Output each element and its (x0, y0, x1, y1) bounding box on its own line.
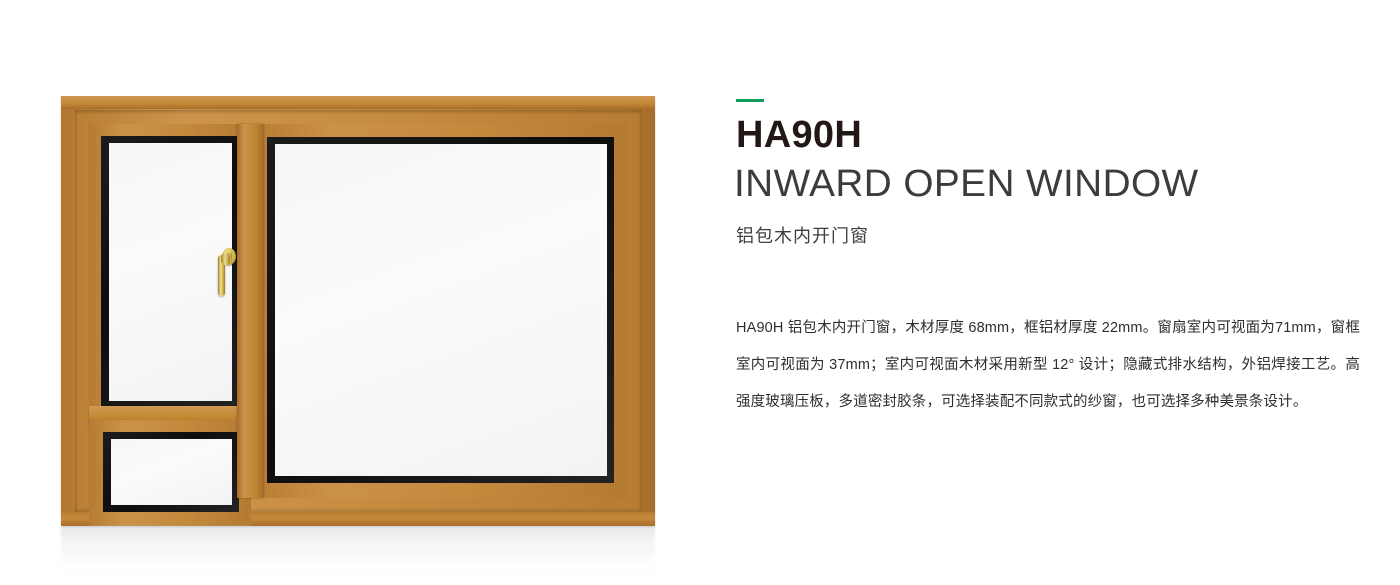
window-inner-frame (75, 110, 641, 512)
right-large-fixed-pane (251, 124, 627, 498)
window-product-image (61, 96, 655, 526)
window-handle-icon (218, 248, 236, 296)
vertical-mullion (237, 124, 263, 498)
product-name-chinese: 铝包木内开门窗 (736, 226, 869, 248)
product-model-code: HA90H (736, 116, 862, 154)
product-detail-page: HA90H INWARD OPEN WINDOW 铝包木内开门窗 HA90H 铝… (0, 0, 1400, 585)
product-info-panel: HA90H INWARD OPEN WINDOW 铝包木内开门窗 HA90H 铝… (736, 0, 1366, 585)
glass-panel (275, 144, 607, 476)
left-bottom-fixed-pane (89, 420, 251, 526)
glass-panel (109, 143, 232, 401)
product-name-english: INWARD OPEN WINDOW (734, 164, 1199, 206)
floor-reflection (61, 526, 655, 578)
product-description: HA90H 铝包木内开门窗，木材厚度 68mm，框铝材厚度 22mm。窗扇室内可… (736, 310, 1360, 421)
handle-neck (221, 253, 230, 265)
accent-rule (736, 99, 764, 102)
glass-panel (111, 439, 232, 505)
product-photo-area (0, 0, 710, 585)
